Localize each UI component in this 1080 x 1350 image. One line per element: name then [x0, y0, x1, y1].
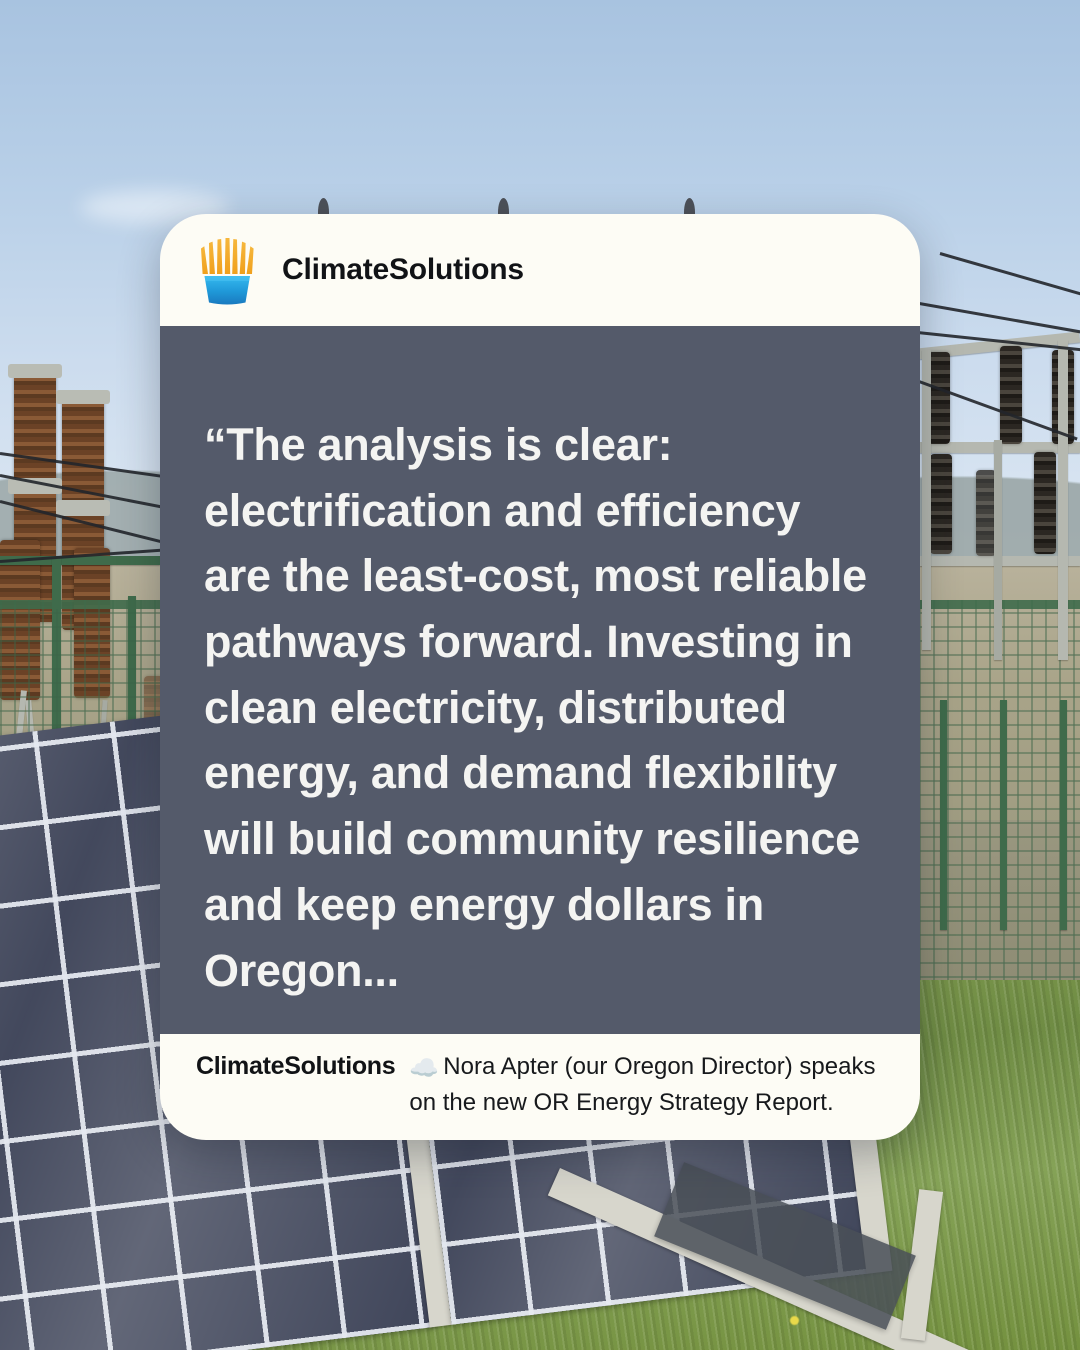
insulator-cap: [56, 500, 110, 516]
insulator-cap: [8, 364, 62, 378]
gantry-column: [994, 440, 1002, 660]
sun-rays-basket-logo-icon: [194, 235, 260, 305]
fence-rail: [0, 600, 175, 609]
quote-panel: “The analysis is clear: electrification …: [160, 326, 920, 1034]
gantry-column: [922, 350, 931, 650]
footer-caption: ☁️Nora Apter (our Oregon Director) speak…: [409, 1050, 884, 1119]
quote-card: ClimateSolutions “The analysis is clear:…: [160, 214, 920, 1140]
gantry-column: [1058, 340, 1068, 660]
insulator-stack: [976, 470, 996, 556]
footer-handle: ClimateSolutions: [196, 1050, 395, 1081]
card-footer: ClimateSolutions ☁️Nora Apter (our Orego…: [160, 1034, 920, 1140]
brand-name: ClimateSolutions: [282, 253, 524, 287]
post-image: ClimateSolutions “The analysis is clear:…: [0, 0, 1080, 1350]
footer-caption-text: Nora Apter (our Oregon Director) speaks …: [409, 1053, 875, 1116]
insulator-stack: [1000, 346, 1022, 444]
insulator-cap: [56, 390, 110, 404]
insulator-stack: [928, 352, 950, 444]
insulator-stack: [1034, 452, 1056, 554]
support-strut: [1060, 700, 1067, 930]
card-header: ClimateSolutions: [160, 214, 920, 326]
flower: [790, 1316, 799, 1325]
insulator-stack: [930, 454, 952, 554]
cloud-icon: ☁️: [409, 1052, 439, 1086]
quote-text: “The analysis is clear: electrification …: [204, 412, 876, 1003]
fence-rail: [905, 600, 1080, 609]
